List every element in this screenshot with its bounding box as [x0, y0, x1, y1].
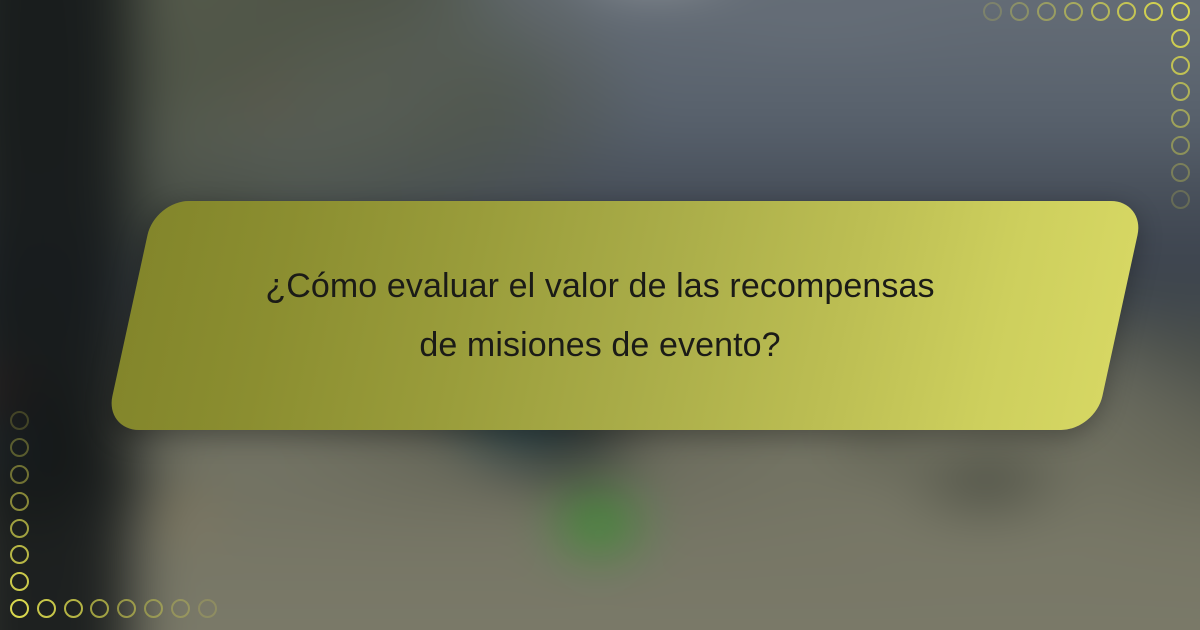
ornament-dot-icon — [10, 411, 29, 430]
ornament-dot-icon — [117, 599, 136, 618]
ornament-dot-icon — [10, 492, 29, 511]
ornament-dot-icon — [144, 599, 163, 618]
ornament-dot-icon — [1171, 109, 1190, 128]
ornament-dot-icon — [1171, 29, 1190, 48]
ornament-dot-icon — [37, 599, 56, 618]
ornament-dot-icon — [1171, 82, 1190, 101]
ornament-dot-icon — [1171, 163, 1190, 182]
ornament-dot-icon — [90, 599, 109, 618]
ornament-dot-icon — [64, 599, 83, 618]
ornament-dot-icon — [1171, 56, 1190, 75]
question-line-2: de misiones de evento? — [419, 316, 780, 375]
ornament-dot-icon — [1091, 2, 1110, 21]
ornament-dot-icon — [1064, 2, 1083, 21]
ornament-dot-icon — [10, 438, 29, 457]
ornament-dot-icon — [1171, 2, 1190, 21]
ornament-dot-icon — [1171, 190, 1190, 209]
ornament-dot-icon — [10, 519, 29, 538]
ornament-dot-icon — [983, 2, 1002, 21]
ornament-dot-icon — [10, 545, 29, 564]
ornament-dot-icon — [10, 465, 29, 484]
question-line-1: ¿Cómo evaluar el valor de las recompensa… — [265, 257, 934, 316]
ornament-dot-icon — [10, 572, 29, 591]
ornament-dot-icon — [171, 599, 190, 618]
ornament-dot-icon — [1144, 2, 1163, 21]
ornament-dot-icon — [1037, 2, 1056, 21]
question-card: ¿Cómo evaluar el valor de las recompensa… — [105, 201, 1095, 430]
ornament-dot-icon — [1010, 2, 1029, 21]
ornament-dot-icon — [1171, 136, 1190, 155]
ornament-dot-icon — [1117, 2, 1136, 21]
ornament-dot-icon — [10, 599, 29, 618]
screenshot-canvas: ¿Cómo evaluar el valor de las recompensa… — [0, 0, 1200, 630]
question-card-text: ¿Cómo evaluar el valor de las recompensa… — [105, 201, 1095, 430]
ornament-dot-icon — [198, 599, 217, 618]
